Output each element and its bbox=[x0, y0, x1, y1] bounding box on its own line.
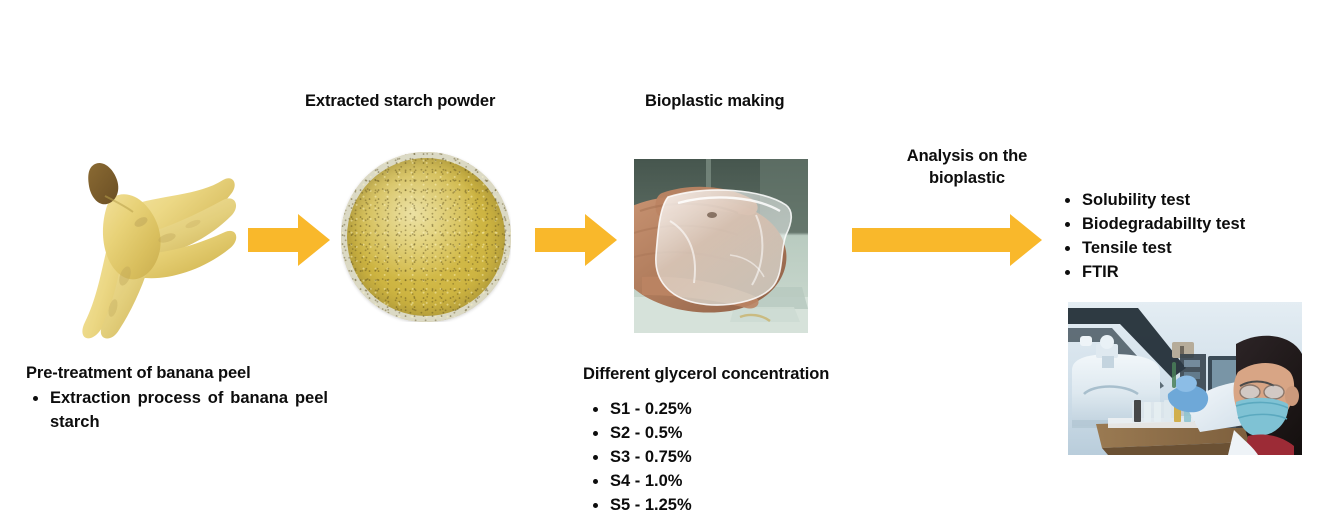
step2-heading: Extracted starch powder bbox=[305, 91, 495, 113]
step4-bullet-list: Solubility test BiodegradabilIty test Te… bbox=[1060, 189, 1320, 285]
process-arrow-starch-to-bioplastic bbox=[535, 214, 617, 266]
list-item: S5 - 1.25% bbox=[588, 494, 848, 518]
list-item: FTIR bbox=[1060, 261, 1320, 285]
step1-heading: Pre-treatment of banana peel bbox=[26, 363, 251, 385]
list-item: S4 - 1.0% bbox=[588, 470, 848, 494]
step3-heading: Bioplastic making bbox=[645, 91, 785, 113]
list-item: Extraction process of banana peel starch bbox=[28, 387, 328, 435]
process-arrow-peel-to-starch bbox=[248, 214, 330, 266]
step3-bullet-list: S1 - 0.25% S2 - 0.5% S3 - 0.75% S4 - 1.0… bbox=[588, 398, 848, 518]
step4-heading: Analysis on the bioplastic bbox=[862, 146, 1072, 190]
step4-heading-line1: Analysis on the bbox=[907, 147, 1027, 165]
bioplastic-film-in-hand-photo bbox=[634, 159, 808, 333]
step3-sub-heading: Different glycerol concentration bbox=[583, 364, 829, 386]
list-item: Tensile test bbox=[1060, 237, 1320, 261]
process-flow-diagram: Pre-treatment of banana peel Extraction … bbox=[0, 0, 1328, 531]
banana-peel-photo bbox=[55, 150, 250, 350]
step4-heading-line2: bioplastic bbox=[929, 169, 1005, 187]
process-arrow-bioplastic-to-analysis bbox=[852, 214, 1042, 266]
step1-bullet-list: Extraction process of banana peel starch bbox=[28, 387, 328, 435]
list-item: BiodegradabilIty test bbox=[1060, 213, 1320, 237]
list-item: Solubility test bbox=[1060, 189, 1320, 213]
laboratory-analysis-photo bbox=[1068, 302, 1302, 455]
starch-powder-petri-dish-photo bbox=[341, 152, 511, 322]
list-item: S3 - 0.75% bbox=[588, 446, 848, 470]
list-item: S1 - 0.25% bbox=[588, 398, 848, 422]
list-item: S2 - 0.5% bbox=[588, 422, 848, 446]
